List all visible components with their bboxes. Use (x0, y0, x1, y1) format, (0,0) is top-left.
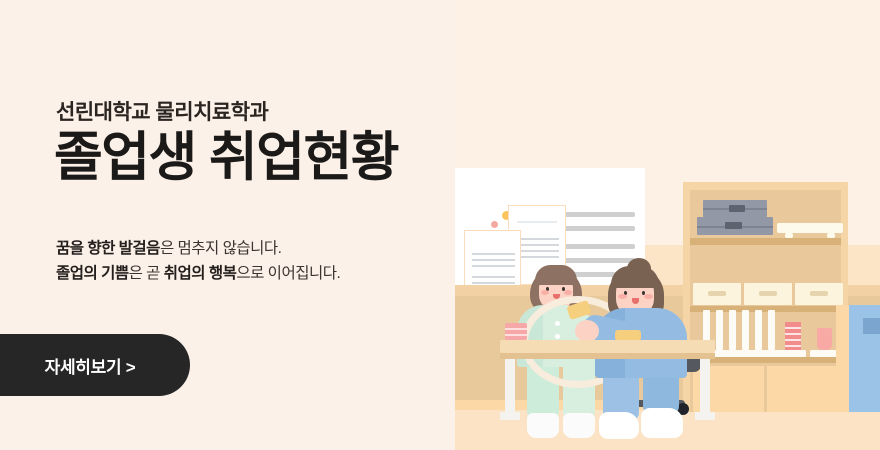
child-hair-top (535, 265, 577, 285)
table-leg-right (700, 359, 710, 417)
detail-view-button[interactable]: 자세히보기 > (0, 334, 190, 396)
therapist-hair-top (611, 266, 659, 288)
subtitle-2-rest: 으로 이어집니다. (236, 265, 340, 282)
cabinet-drawer-3[interactable] (795, 283, 843, 305)
subtitle-1-bold: 꿈을 향한 발걸음 (56, 240, 160, 257)
subtitle-2-bold-b: 취업의 행복 (164, 265, 237, 282)
therapy-rod-6 (768, 310, 775, 350)
cabinet-shelf-mid (690, 306, 841, 312)
blue-panel-square (863, 318, 880, 334)
banner-headline: 졸업생 취업현황 (54, 128, 398, 189)
therapy-rod-2 (716, 310, 723, 350)
therapy-rod-4 (742, 310, 749, 350)
cabinet-shelf-top (690, 238, 841, 245)
therapy-rod-3 (729, 310, 736, 350)
detail-view-button-label: 자세히보기 > (0, 334, 190, 396)
banner-subtitle-line-2: 졸업의 기쁨은 곧 취업의 행복으로 이어집니다. (56, 261, 340, 283)
department-eyebrow: 선린대학교 물리치료학과 (56, 96, 268, 126)
cabinet-drawer-1[interactable] (693, 283, 741, 305)
therapist-shoe-right (641, 408, 683, 438)
cream-shelf-item (777, 223, 843, 233)
pink-cup (817, 328, 832, 350)
panel-wood-trim (836, 305, 849, 412)
decorative-dot-pink (491, 221, 498, 228)
therapist-shoe-left (599, 412, 639, 439)
banner-subtitle-line-1: 꿈을 향한 발걸음은 멈추지 않습니다. (56, 236, 281, 258)
therapy-table-edge (500, 353, 715, 359)
physical-therapy-room-illustration (455, 0, 880, 450)
therapy-rod-5 (755, 310, 762, 350)
cabinet-door-right[interactable] (767, 366, 841, 412)
child-sock-left (527, 413, 559, 438)
table-leg-left (505, 359, 515, 417)
child-sock-right (563, 413, 595, 438)
subtitle-1-rest: 은 멈추지 않습니다. (160, 240, 282, 257)
table-leg-right-foot (695, 412, 715, 420)
therapy-table-top (500, 340, 715, 353)
subtitle-2-bold-a: 졸업의 기쁨 (56, 265, 129, 282)
subtitle-2-mid: 은 곧 (129, 265, 164, 282)
gray-storage-box-lower (697, 217, 773, 235)
cabinet-drawer-2[interactable] (744, 283, 792, 305)
therapist-hand (575, 320, 599, 342)
pink-block-stack (785, 322, 801, 350)
pink-therapy-blocks (505, 323, 527, 340)
gray-storage-box-upper (703, 200, 767, 217)
promo-banner: 선린대학교 물리치료학과 졸업생 취업현황 꿈을 향한 발걸음은 멈추지 않습니… (0, 0, 880, 450)
table-leg-left-foot (500, 412, 520, 420)
